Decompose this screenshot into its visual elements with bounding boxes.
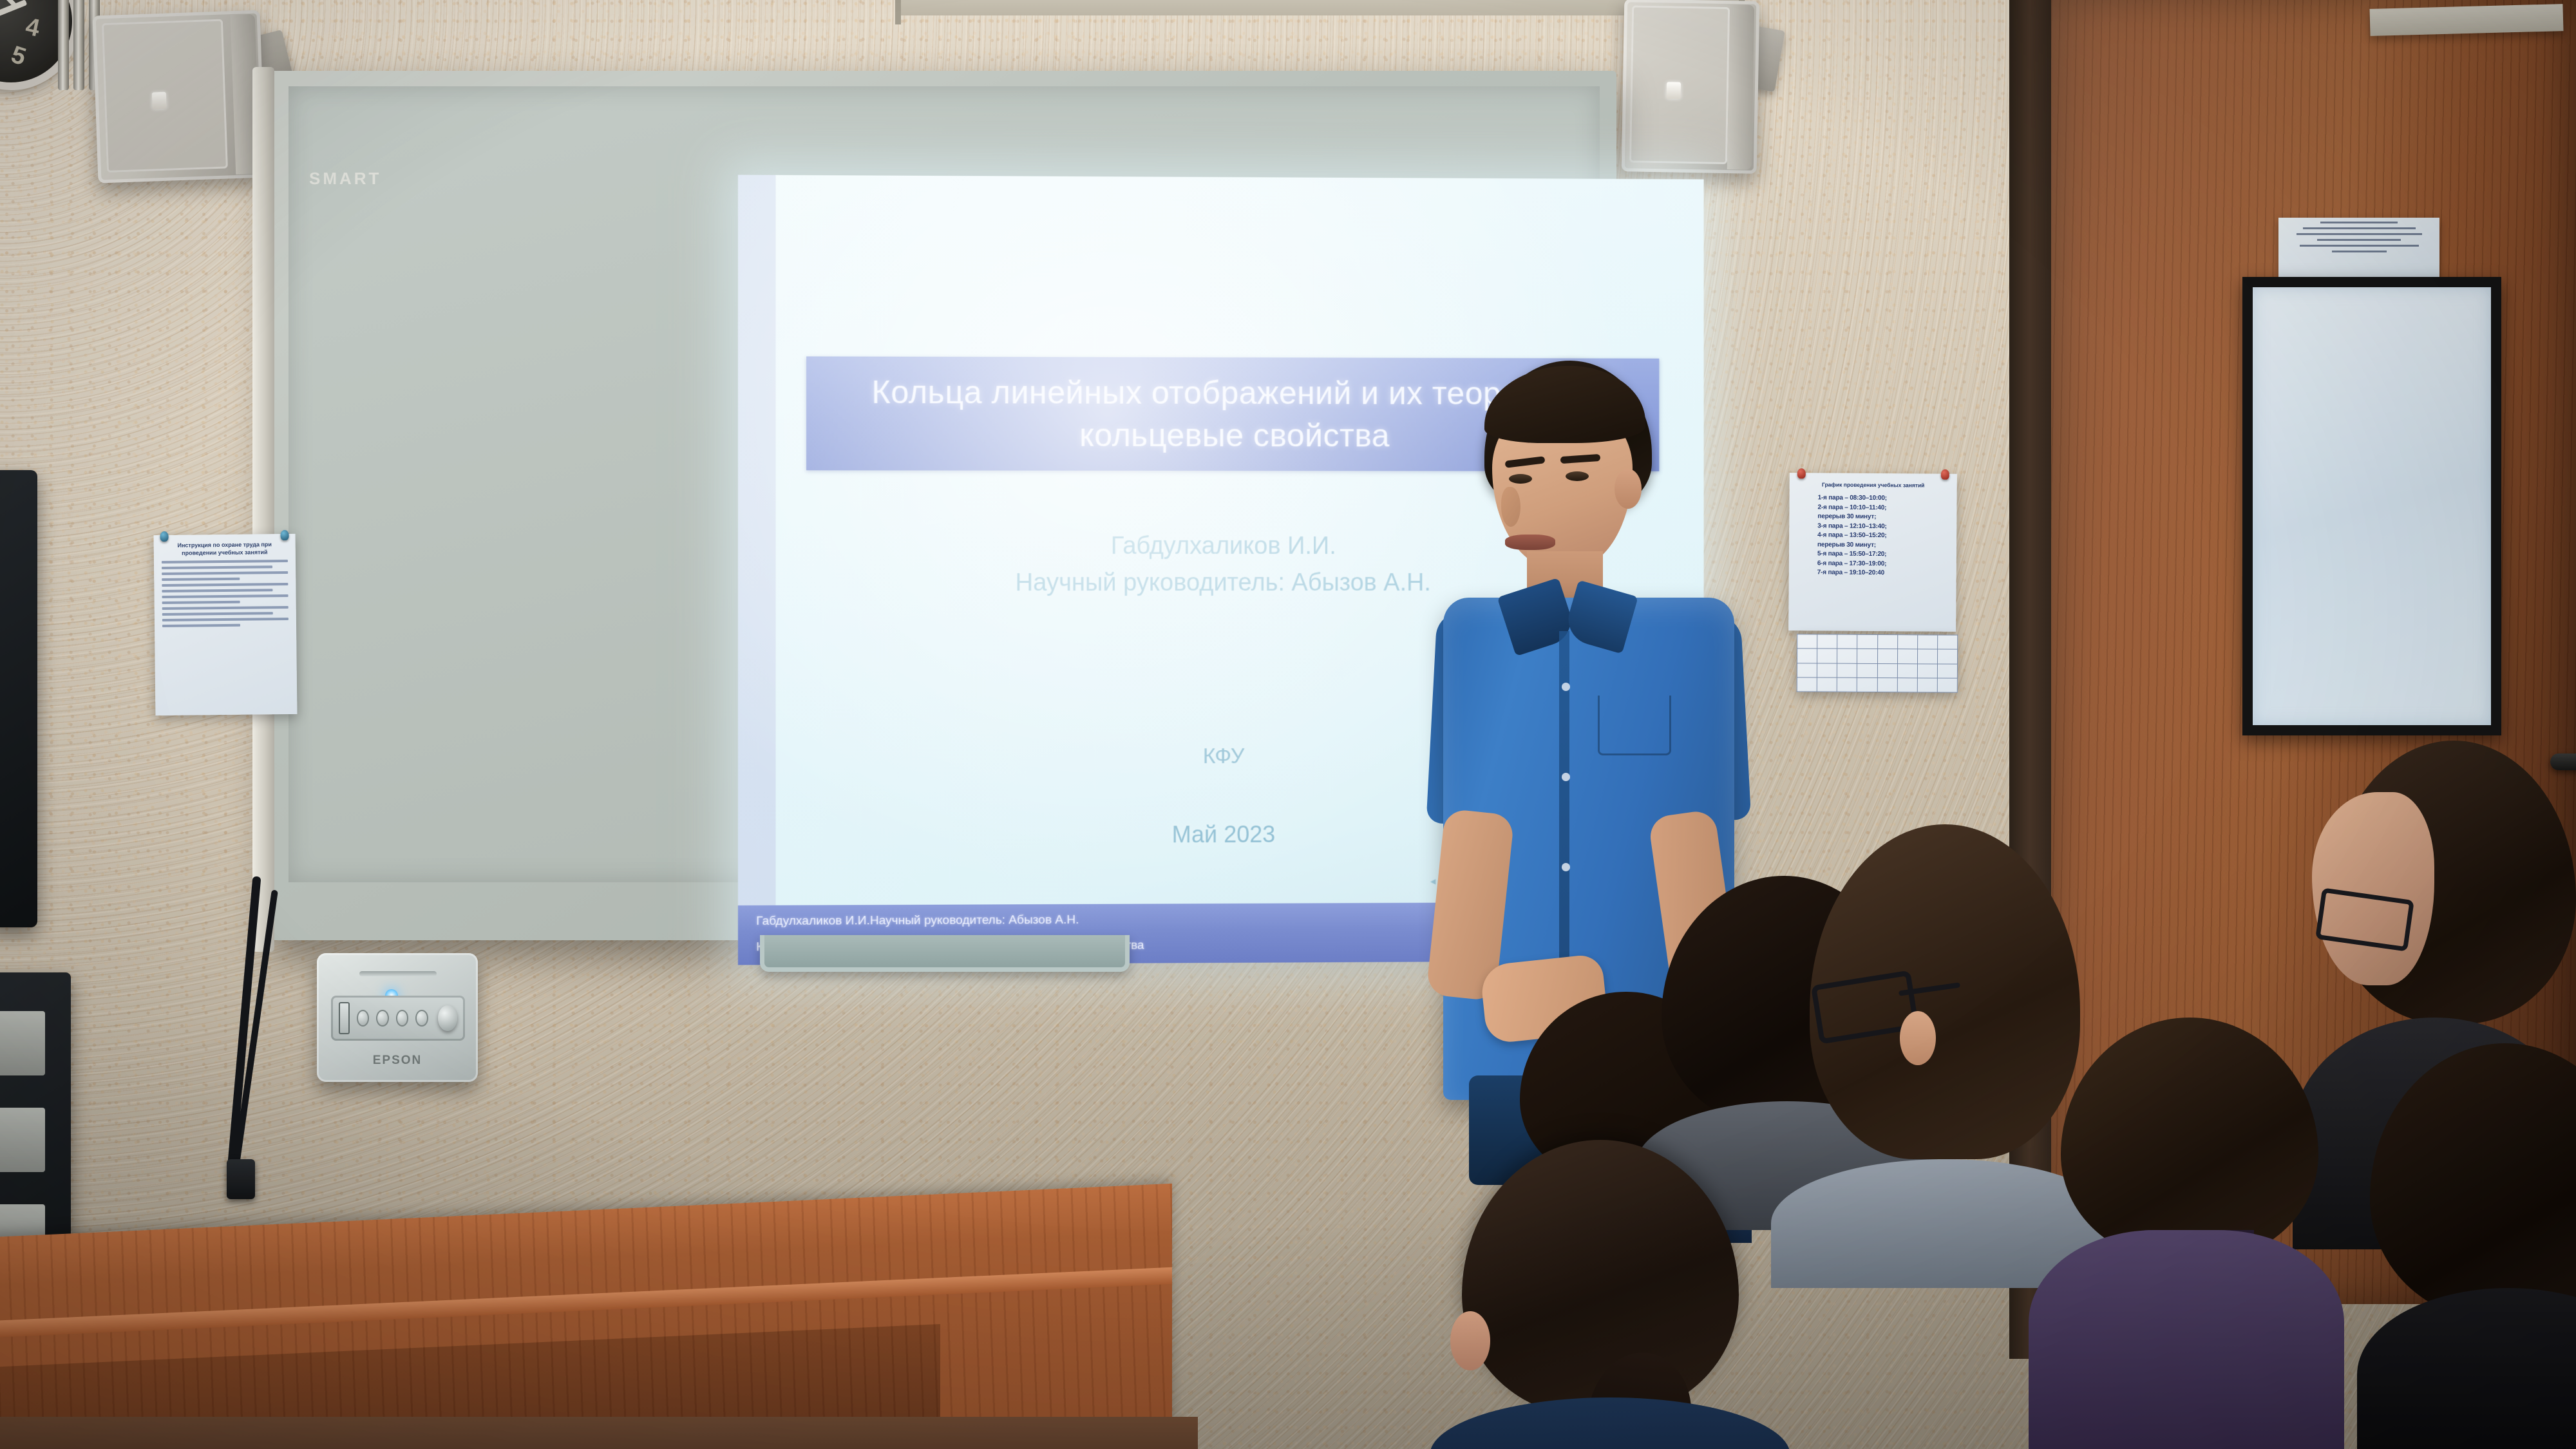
- speaker-badge: [152, 92, 167, 109]
- audience-ear: [1900, 1011, 1936, 1065]
- notice-line: [162, 560, 288, 563]
- notice-line: [162, 601, 240, 604]
- notice-line: [2303, 227, 2416, 229]
- presenter-eye: [1566, 471, 1589, 481]
- clock-numeral-5: 5: [8, 41, 29, 71]
- notice-line: [162, 612, 273, 616]
- notice-line: [2320, 222, 2398, 223]
- presenter-shirt-pocket: [1598, 696, 1671, 755]
- schedule-row: 4-я пара – 13:50–15:20;: [1817, 531, 1956, 540]
- speaker-side: [1727, 5, 1754, 170]
- presenter-eye: [1509, 474, 1532, 484]
- cabinet-slot: [0, 1108, 45, 1172]
- audience-ear: [1450, 1311, 1490, 1370]
- audience-member: [1404, 1140, 1803, 1449]
- notice-line: [162, 583, 288, 587]
- timetable-table: [1797, 634, 1958, 692]
- notice-line: [162, 578, 240, 581]
- class-schedule-poster: График проведения учебных занятий 1-я па…: [1788, 473, 1957, 632]
- notice-line: [2332, 251, 2387, 252]
- whiteboard-pen-tray[interactable]: [760, 935, 1130, 972]
- shirt-button: [1562, 683, 1570, 691]
- notice-line: [162, 571, 288, 575]
- pin-icon: [160, 531, 168, 542]
- left-dark-monitor: [0, 470, 37, 927]
- wall-pipe: [73, 0, 84, 90]
- notice-line: [162, 606, 289, 610]
- shirt-button: [1562, 773, 1570, 781]
- notice-line: [162, 594, 289, 598]
- slide-author-name: Габдулхаликов И.И.: [1111, 533, 1336, 560]
- ceiling-seam-left: [895, 0, 901, 24]
- epson-brand-label: EPSON: [317, 1054, 478, 1068]
- notice-line: [162, 624, 240, 627]
- schedule-row: 1-я пара – 08:30–10:00;: [1818, 494, 1957, 502]
- notice-line: [162, 566, 272, 570]
- schedule-row: 6-я пара – 17:30–19:00;: [1817, 560, 1956, 568]
- notice-line: [2300, 245, 2419, 247]
- presenter-nose: [1501, 487, 1520, 527]
- schedule-row: 7-я пара – 19:10–20:40: [1817, 569, 1956, 577]
- control-button[interactable]: [415, 1010, 428, 1027]
- wall-notice-left: Инструкция по охране труда при проведени…: [154, 534, 298, 715]
- presenter-fringe: [1484, 366, 1645, 443]
- notice-title: Инструкция по охране труда при проведени…: [160, 540, 289, 557]
- presenter-mouth: [1505, 535, 1555, 550]
- power-plug: [227, 1159, 255, 1199]
- door-top-trim: [2370, 4, 2564, 36]
- schedule-row: 3-я пара – 12:10–13:40;: [1817, 522, 1956, 531]
- schedule-row: перерыв 30 минут;: [1817, 541, 1956, 549]
- audience-hair: [1462, 1140, 1739, 1417]
- pin-icon: [280, 530, 289, 540]
- control-button-panel[interactable]: [331, 996, 465, 1041]
- volume-knob[interactable]: [438, 1005, 457, 1031]
- speaker-badge: [1667, 82, 1681, 99]
- audience-hair: [2061, 1018, 2318, 1262]
- classroom-scene: 4 5 SMART Кольца линейных отображений и …: [0, 0, 2576, 1449]
- floor: [0, 1417, 1198, 1449]
- control-button[interactable]: [357, 1010, 370, 1027]
- door-document-frame: [2242, 277, 2501, 735]
- audience-member: [2048, 1018, 2318, 1449]
- control-button[interactable]: [396, 1010, 409, 1027]
- notice-line: [2317, 239, 2401, 241]
- clock-numeral-4: 4: [23, 13, 43, 43]
- indicator-bar: [339, 1002, 350, 1034]
- presenter-ear: [1615, 469, 1642, 509]
- audience-torso: [2029, 1230, 2344, 1449]
- wall-speaker-left: [93, 10, 266, 184]
- wall-pipe: [58, 0, 69, 90]
- audience-torso: [1430, 1397, 1790, 1449]
- audience-hair: [2370, 1043, 2576, 1320]
- shirt-button: [1562, 863, 1570, 871]
- wall-timetable-grid: [1797, 634, 1958, 692]
- ceiling-band: [895, 0, 1745, 15]
- cabinet-slot: [0, 1011, 45, 1075]
- footer-author-line: Габдулхаликов И.И.Научный руководитель: …: [756, 913, 1079, 929]
- audience-member: [2370, 1043, 2576, 1449]
- wall-speaker-right: [1622, 0, 1760, 174]
- door-notice-sheet: [2278, 218, 2439, 279]
- notice-line: [162, 618, 289, 621]
- notice-line: [2297, 233, 2422, 235]
- pin-icon: [1941, 469, 1949, 480]
- schedule-row: перерыв 30 минут;: [1817, 513, 1956, 521]
- schedule-row: 2-я пара – 10:10–11:40;: [1817, 504, 1956, 512]
- epson-projector-control-box[interactable]: EPSON: [317, 953, 478, 1082]
- audience-torso: [2357, 1288, 2576, 1449]
- framed-blank-sheet: [2253, 287, 2491, 725]
- control-box-vent: [359, 971, 437, 976]
- schedule-row: 5-я пара – 15:50–17:20;: [1817, 550, 1956, 558]
- control-button[interactable]: [376, 1010, 389, 1027]
- schedule-title: График проведения учебных занятий: [1797, 481, 1949, 489]
- whiteboard-brand-label: SMART: [309, 169, 381, 189]
- notice-line: [162, 589, 272, 593]
- whiteboard-left-edge: [252, 67, 274, 952]
